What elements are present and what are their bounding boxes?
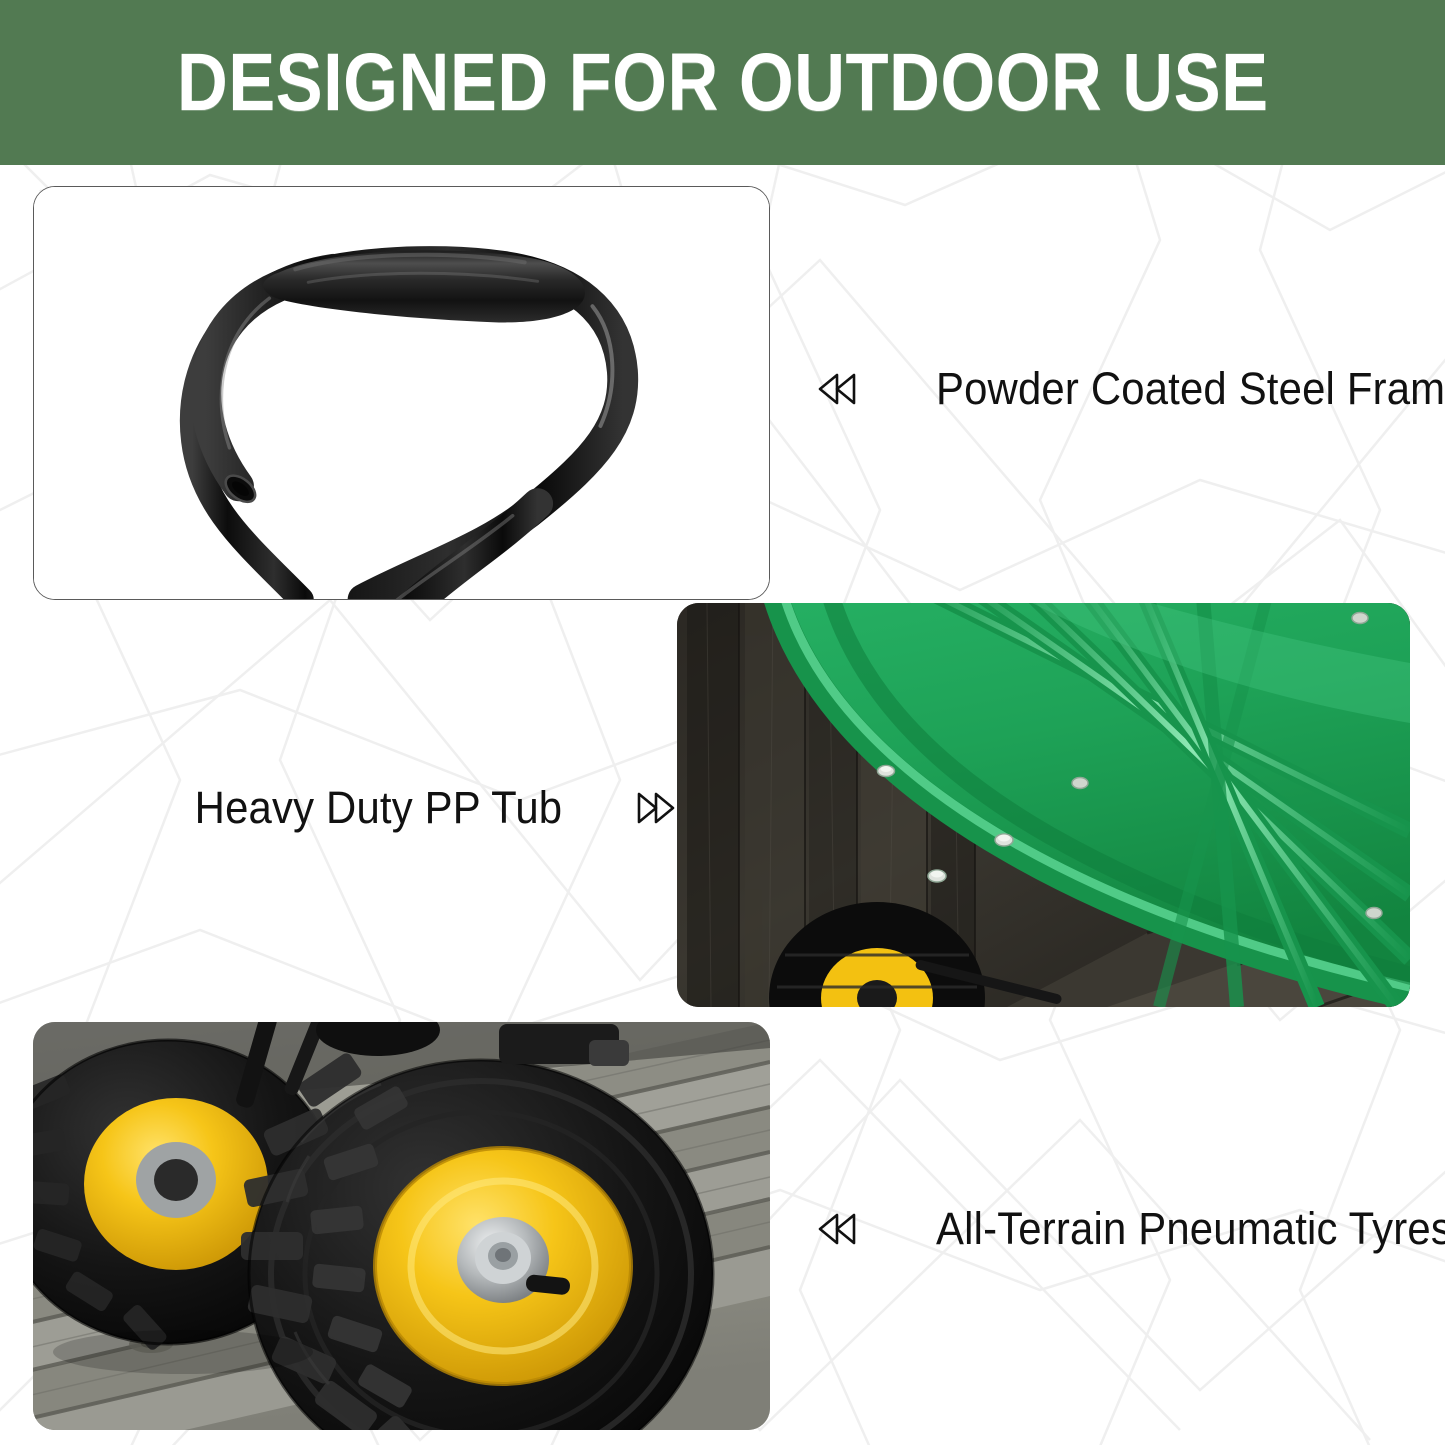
green-tub-illustration (677, 603, 1410, 1007)
page-title: DESIGNED FOR OUTDOOR USE (177, 42, 1269, 124)
handle-photo-panel (33, 186, 770, 600)
tub-photo (677, 603, 1410, 1007)
header-banner: DESIGNED FOR OUTDOOR USE (0, 0, 1445, 165)
feature-heavy-duty-pp-tub: Heavy Duty PP Tub (167, 785, 678, 830)
infographic-page: DESIGNED FOR OUTDOOR USE (0, 0, 1445, 1445)
double-triangle-right-icon (632, 788, 678, 828)
pneumatic-tyres-illustration (33, 1022, 770, 1430)
feature-label-powder-coated-steel-frame: Powder Coated Steel Frame (936, 366, 1445, 411)
feature-all-terrain-pneumatic-tyres: All-Terrain Pneumatic Tyres (815, 1206, 1445, 1251)
feature-label-all-terrain-pneumatic-tyres: All-Terrain Pneumatic Tyres (936, 1206, 1445, 1251)
handle-photo (34, 187, 769, 599)
tub-photo-panel (677, 603, 1410, 1007)
steel-handle-illustration (34, 187, 769, 599)
feature-powder-coated-steel-frame: Powder Coated Steel Frame (815, 366, 1445, 411)
wheels-photo-panel (33, 1022, 770, 1430)
double-triangle-left-icon (815, 369, 861, 409)
wheels-photo (33, 1022, 770, 1430)
double-triangle-left-icon (815, 1209, 861, 1249)
feature-label-heavy-duty-pp-tub: Heavy Duty PP Tub (195, 785, 563, 830)
